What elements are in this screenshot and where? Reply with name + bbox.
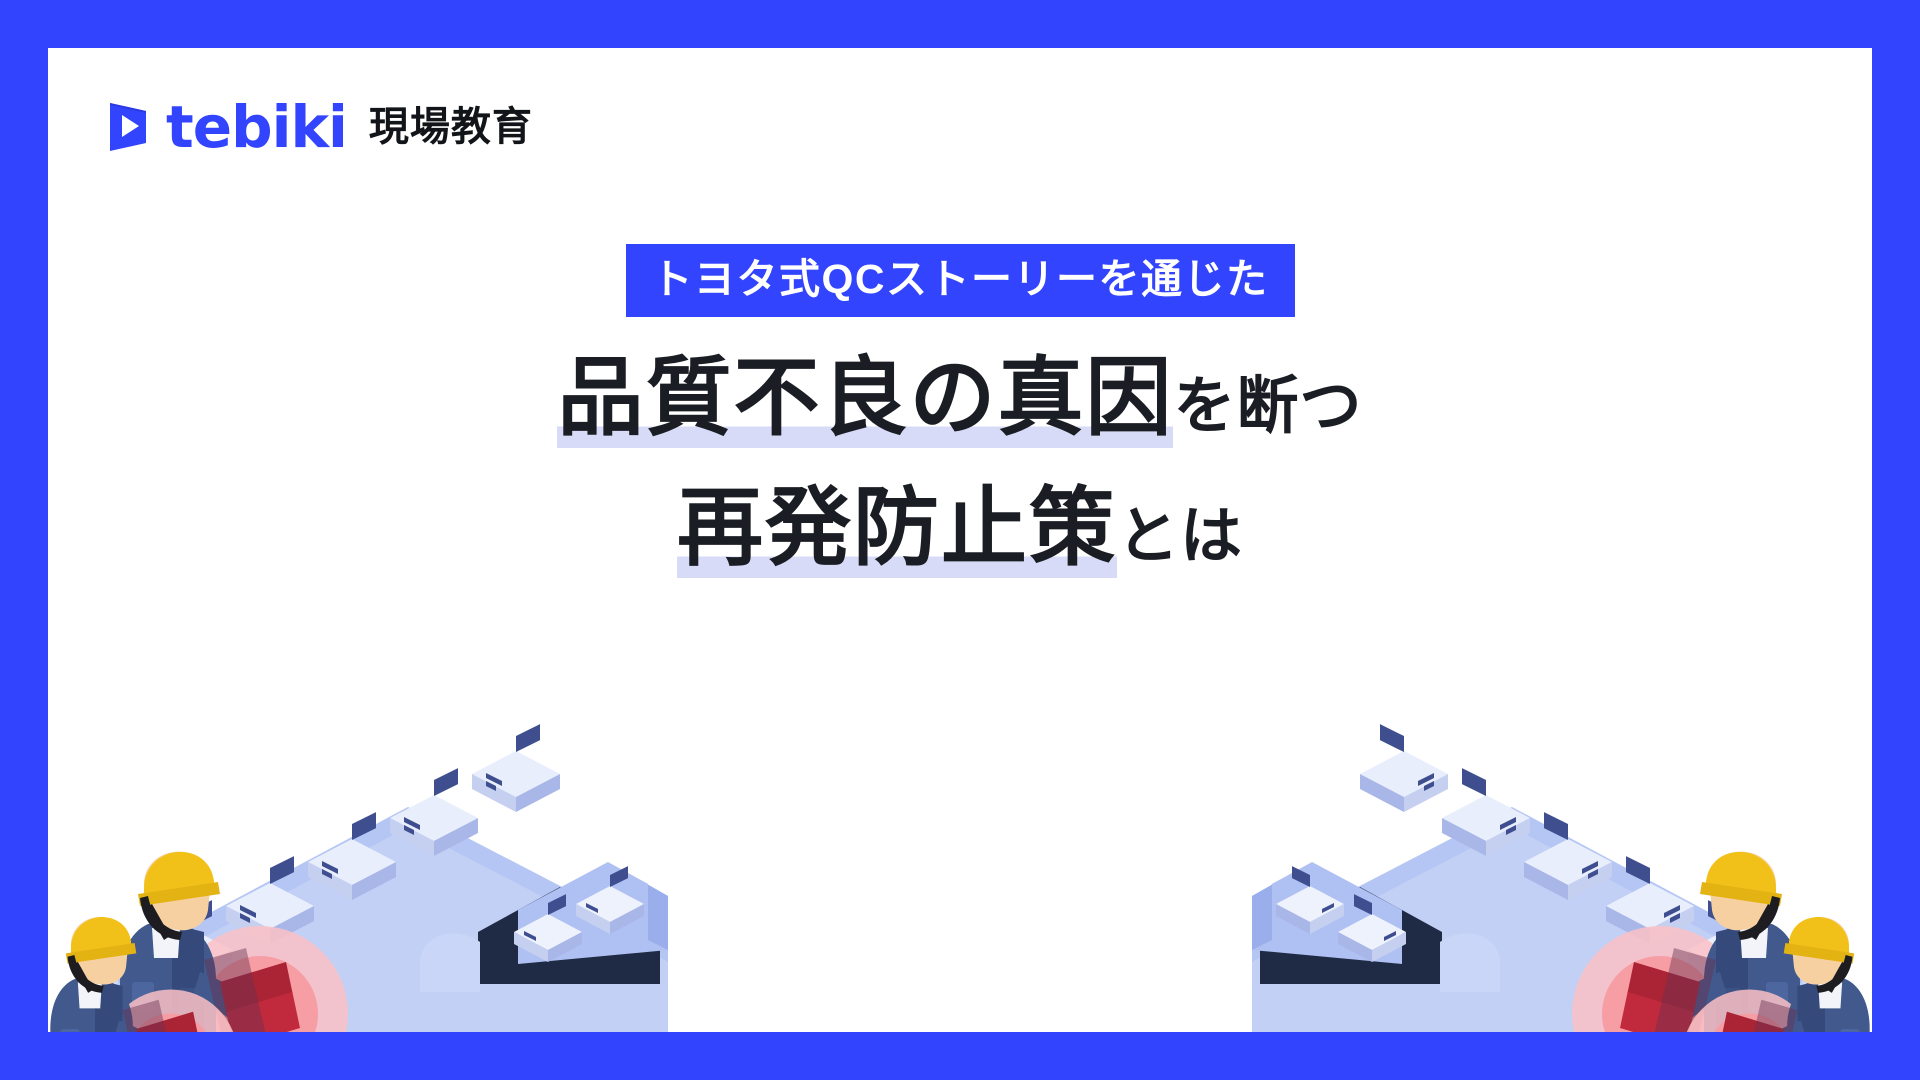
illustration-right (1252, 632, 1872, 1032)
headline-block: トヨタ式QCストーリーを通じた 品質不良の真因を断つ 再発防止策とは (48, 244, 1872, 585)
title-line-2-tail: とは (1117, 502, 1243, 571)
title-line-1-tail: を断つ (1173, 372, 1362, 441)
eyebrow-banner: トヨタ式QCストーリーを通じた (626, 244, 1295, 317)
slide-card: tebiki 現場教育 トヨタ式QCストーリーを通じた 品質不良の真因を断つ 再… (48, 48, 1872, 1032)
title-line-1: 品質不良の真因を断つ (48, 343, 1872, 455)
title-line-2-highlight: 再発防止策 (677, 480, 1117, 578)
brand-logo: tebiki 現場教育 (108, 98, 533, 156)
tebiki-play-mark-icon (108, 99, 152, 155)
logo-wordmark: tebiki (166, 98, 347, 156)
logo-japanese-label: 現場教育 (369, 107, 533, 147)
title-line-1-highlight: 品質不良の真因 (557, 350, 1173, 448)
title-line-2: 再発防止策とは (48, 473, 1872, 585)
illustration-left (48, 632, 668, 1032)
eyebrow-wrapper: トヨタ式QCストーリーを通じた (48, 244, 1872, 317)
